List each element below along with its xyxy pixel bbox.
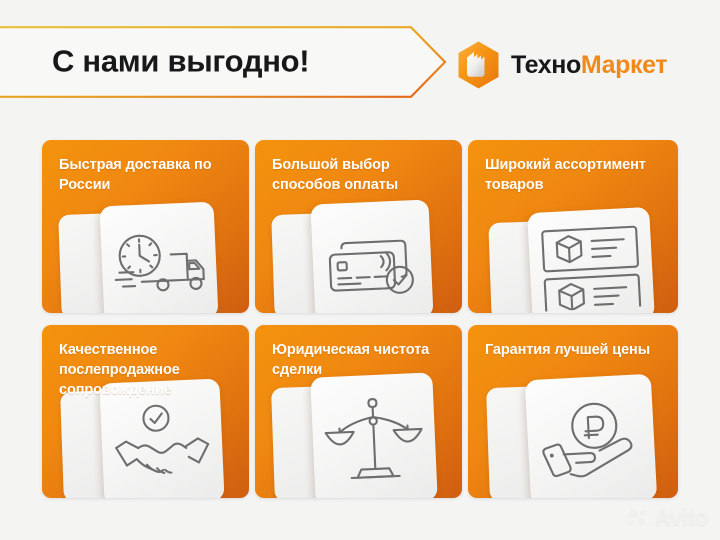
benefits-row-2: Качественное послепродажное сопровождени… <box>42 325 720 498</box>
benefit-card-wide-range[interactable]: Широкий ассортимент товаров <box>468 140 678 313</box>
clock-truck-icon <box>105 223 212 301</box>
credit-cards-check-icon <box>318 221 425 301</box>
benefit-card-title: Быстрая доставка по России <box>59 155 235 195</box>
poster-canvas: С нами выгодно! <box>0 0 720 540</box>
benefit-card-title: Широкий ассортимент товаров <box>485 155 664 195</box>
benefit-card-title: Юридическая чистота сделки <box>272 340 448 380</box>
header-banner: С нами выгодно! <box>0 26 458 98</box>
hexagon-building-icon <box>455 40 502 90</box>
benefit-card-title: Большой выбор способов оплаты <box>272 155 448 195</box>
benefits-grid: Быстрая доставка по России <box>42 140 720 498</box>
benefit-card-legal-purity[interactable]: Юридическая чистота сделки <box>255 325 462 498</box>
avito-watermark: Avito <box>628 504 708 531</box>
benefits-row-1: Быстрая доставка по России <box>42 140 720 313</box>
paper-sheet-front <box>310 199 433 313</box>
benefit-card-title: Гарантия лучшей цены <box>485 340 664 360</box>
avito-dots-icon <box>628 509 649 526</box>
paper-sheet-front <box>525 374 657 498</box>
paper-sheet-front <box>100 202 219 313</box>
product-list-boxes-icon <box>534 220 648 312</box>
hand-ruble-coin-icon <box>535 394 647 486</box>
page-title: С нами выгодно! <box>52 43 309 79</box>
avito-watermark-text: Avito <box>654 504 708 531</box>
brand-name-part2: Маркет <box>581 51 667 79</box>
handshake-check-icon <box>108 400 215 484</box>
benefit-card-fast-delivery[interactable]: Быстрая доставка по России <box>42 140 249 313</box>
brand-logo-text: ТехноМаркет <box>511 51 667 80</box>
benefit-card-best-price[interactable]: Гарантия лучшей цены <box>468 325 678 498</box>
benefit-card-after-sales[interactable]: Качественное послепродажное сопровождени… <box>42 325 249 498</box>
scales-of-justice-icon <box>322 391 426 487</box>
paper-sheet-front <box>527 207 655 313</box>
brand-name-part1: Техно <box>511 51 581 79</box>
benefit-card-title: Качественное послепродажное сопровождени… <box>59 340 235 400</box>
paper-sheet-front <box>310 372 437 498</box>
benefit-card-payment-options[interactable]: Большой выбор способов оплаты <box>255 140 462 313</box>
brand-logo[interactable]: ТехноМаркет <box>455 40 667 90</box>
